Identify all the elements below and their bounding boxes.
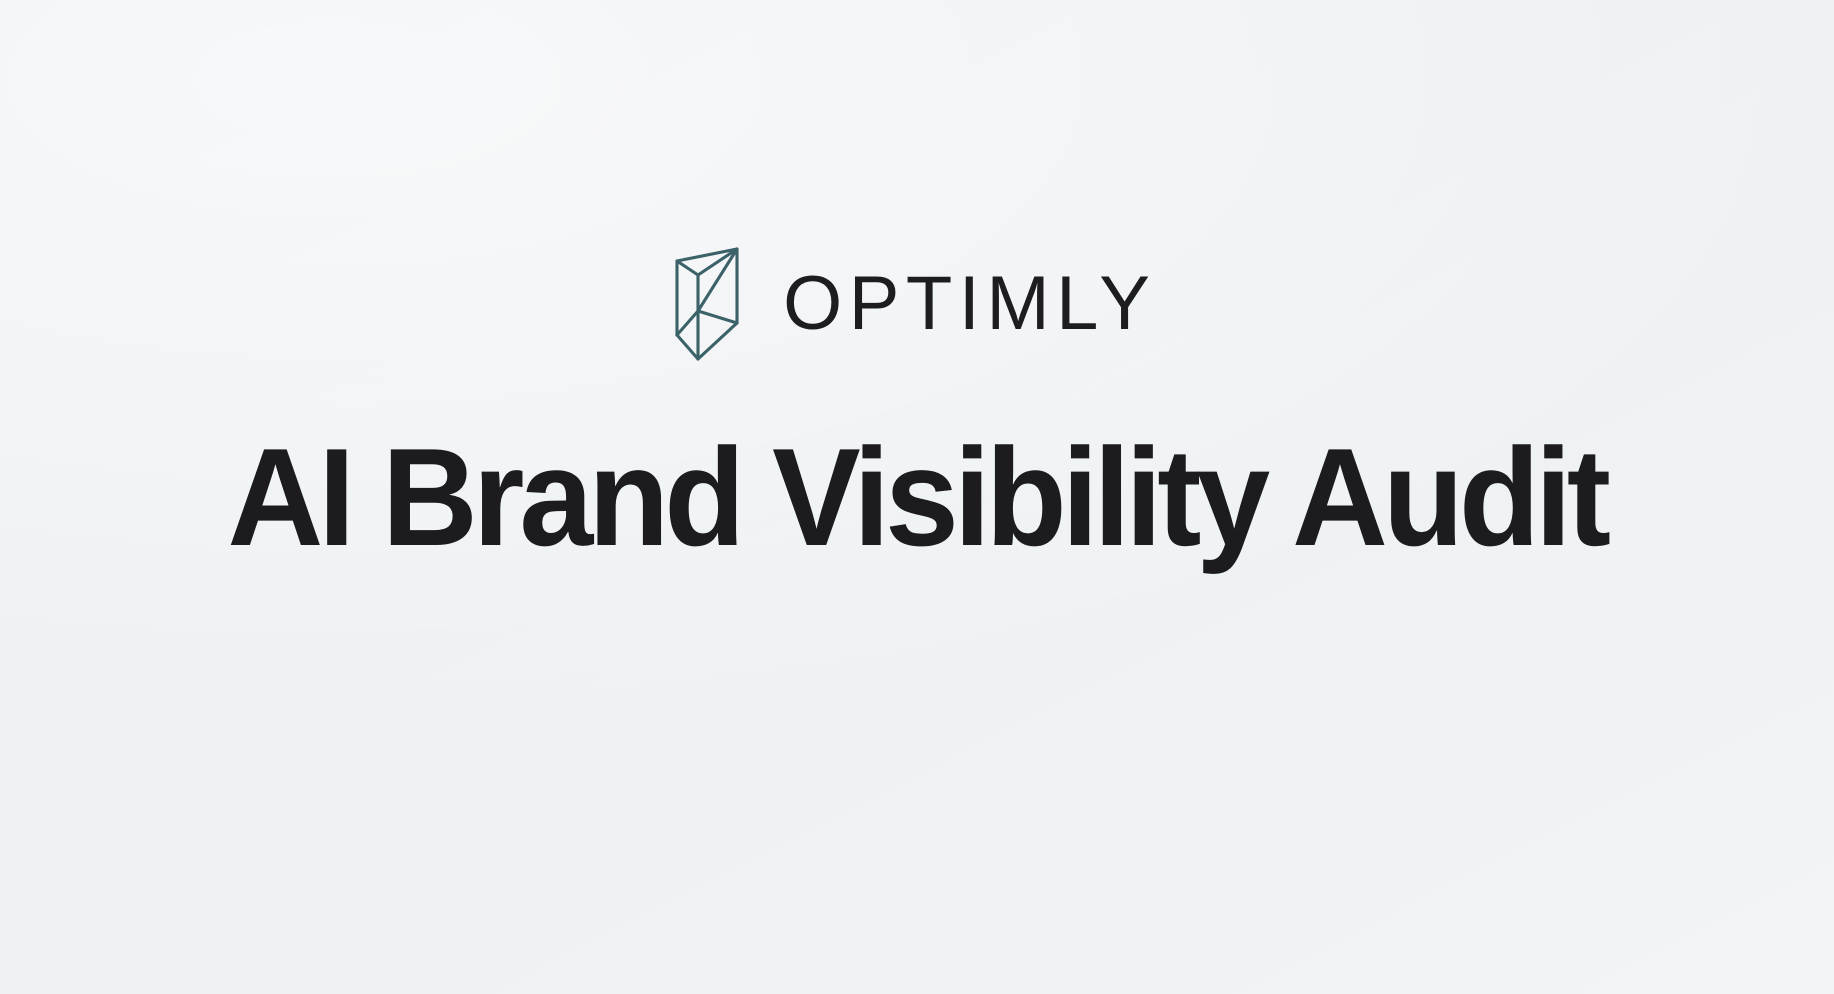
headline-container: AI Brand Visibility Audit [0,398,1834,598]
title-slide: OPTIMLY AI Brand Visibility Audit [0,0,1834,994]
brand-lockup: OPTIMLY [0,238,1834,370]
page-title: AI Brand Visibility Audit [228,425,1606,571]
triangular-prism-wireframe-icon [671,247,743,363]
brand-wordmark: OPTIMLY [783,266,1163,342]
